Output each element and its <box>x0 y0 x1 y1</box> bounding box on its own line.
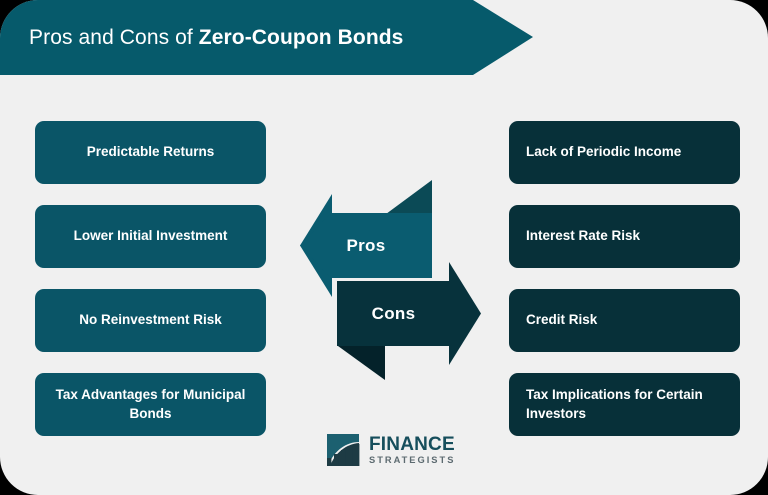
pros-item: Predictable Returns <box>35 121 266 184</box>
cons-column: Lack of Periodic Income Interest Rate Ri… <box>509 121 740 457</box>
logo-primary-text: FINANCE <box>369 435 455 454</box>
pros-item: Lower Initial Investment <box>35 205 266 268</box>
cons-item: Tax Implications for Certain Investors <box>509 373 740 436</box>
cons-item: Interest Rate Risk <box>509 205 740 268</box>
finance-strategists-logo: FINANCE STRATEGISTS <box>326 430 454 470</box>
finance-strategists-bar-chart-swoosh-icon <box>326 433 364 467</box>
center-arrows: Pros Cons <box>300 180 482 380</box>
cons-item: Credit Risk <box>509 289 740 352</box>
cons-arrow-tail-icon <box>338 346 385 380</box>
pros-item: Tax Advantages for Municipal Bonds <box>35 373 266 436</box>
page-title-strong: Zero-Coupon Bonds <box>199 26 404 49</box>
logo-secondary-text: STRATEGISTS <box>369 456 455 465</box>
cons-item: Lack of Periodic Income <box>509 121 740 184</box>
infographic-card: Pros and Cons of Zero-Coupon Bonds Predi… <box>0 0 768 495</box>
pros-column: Predictable Returns Lower Initial Invest… <box>35 121 266 457</box>
pros-arrow-label: Pros <box>300 213 432 278</box>
cons-arrow-head-icon <box>449 262 481 365</box>
header-banner: Pros and Cons of Zero-Coupon Bonds <box>0 0 533 75</box>
page-title: Pros and Cons of Zero-Coupon Bonds <box>29 26 403 50</box>
page-title-plain: Pros and Cons of <box>29 26 199 49</box>
pros-item: No Reinvestment Risk <box>35 289 266 352</box>
cons-arrow-label: Cons <box>337 281 450 346</box>
logo-wordmark: FINANCE STRATEGISTS <box>369 435 455 465</box>
pros-arrow-tail-icon <box>386 180 432 214</box>
